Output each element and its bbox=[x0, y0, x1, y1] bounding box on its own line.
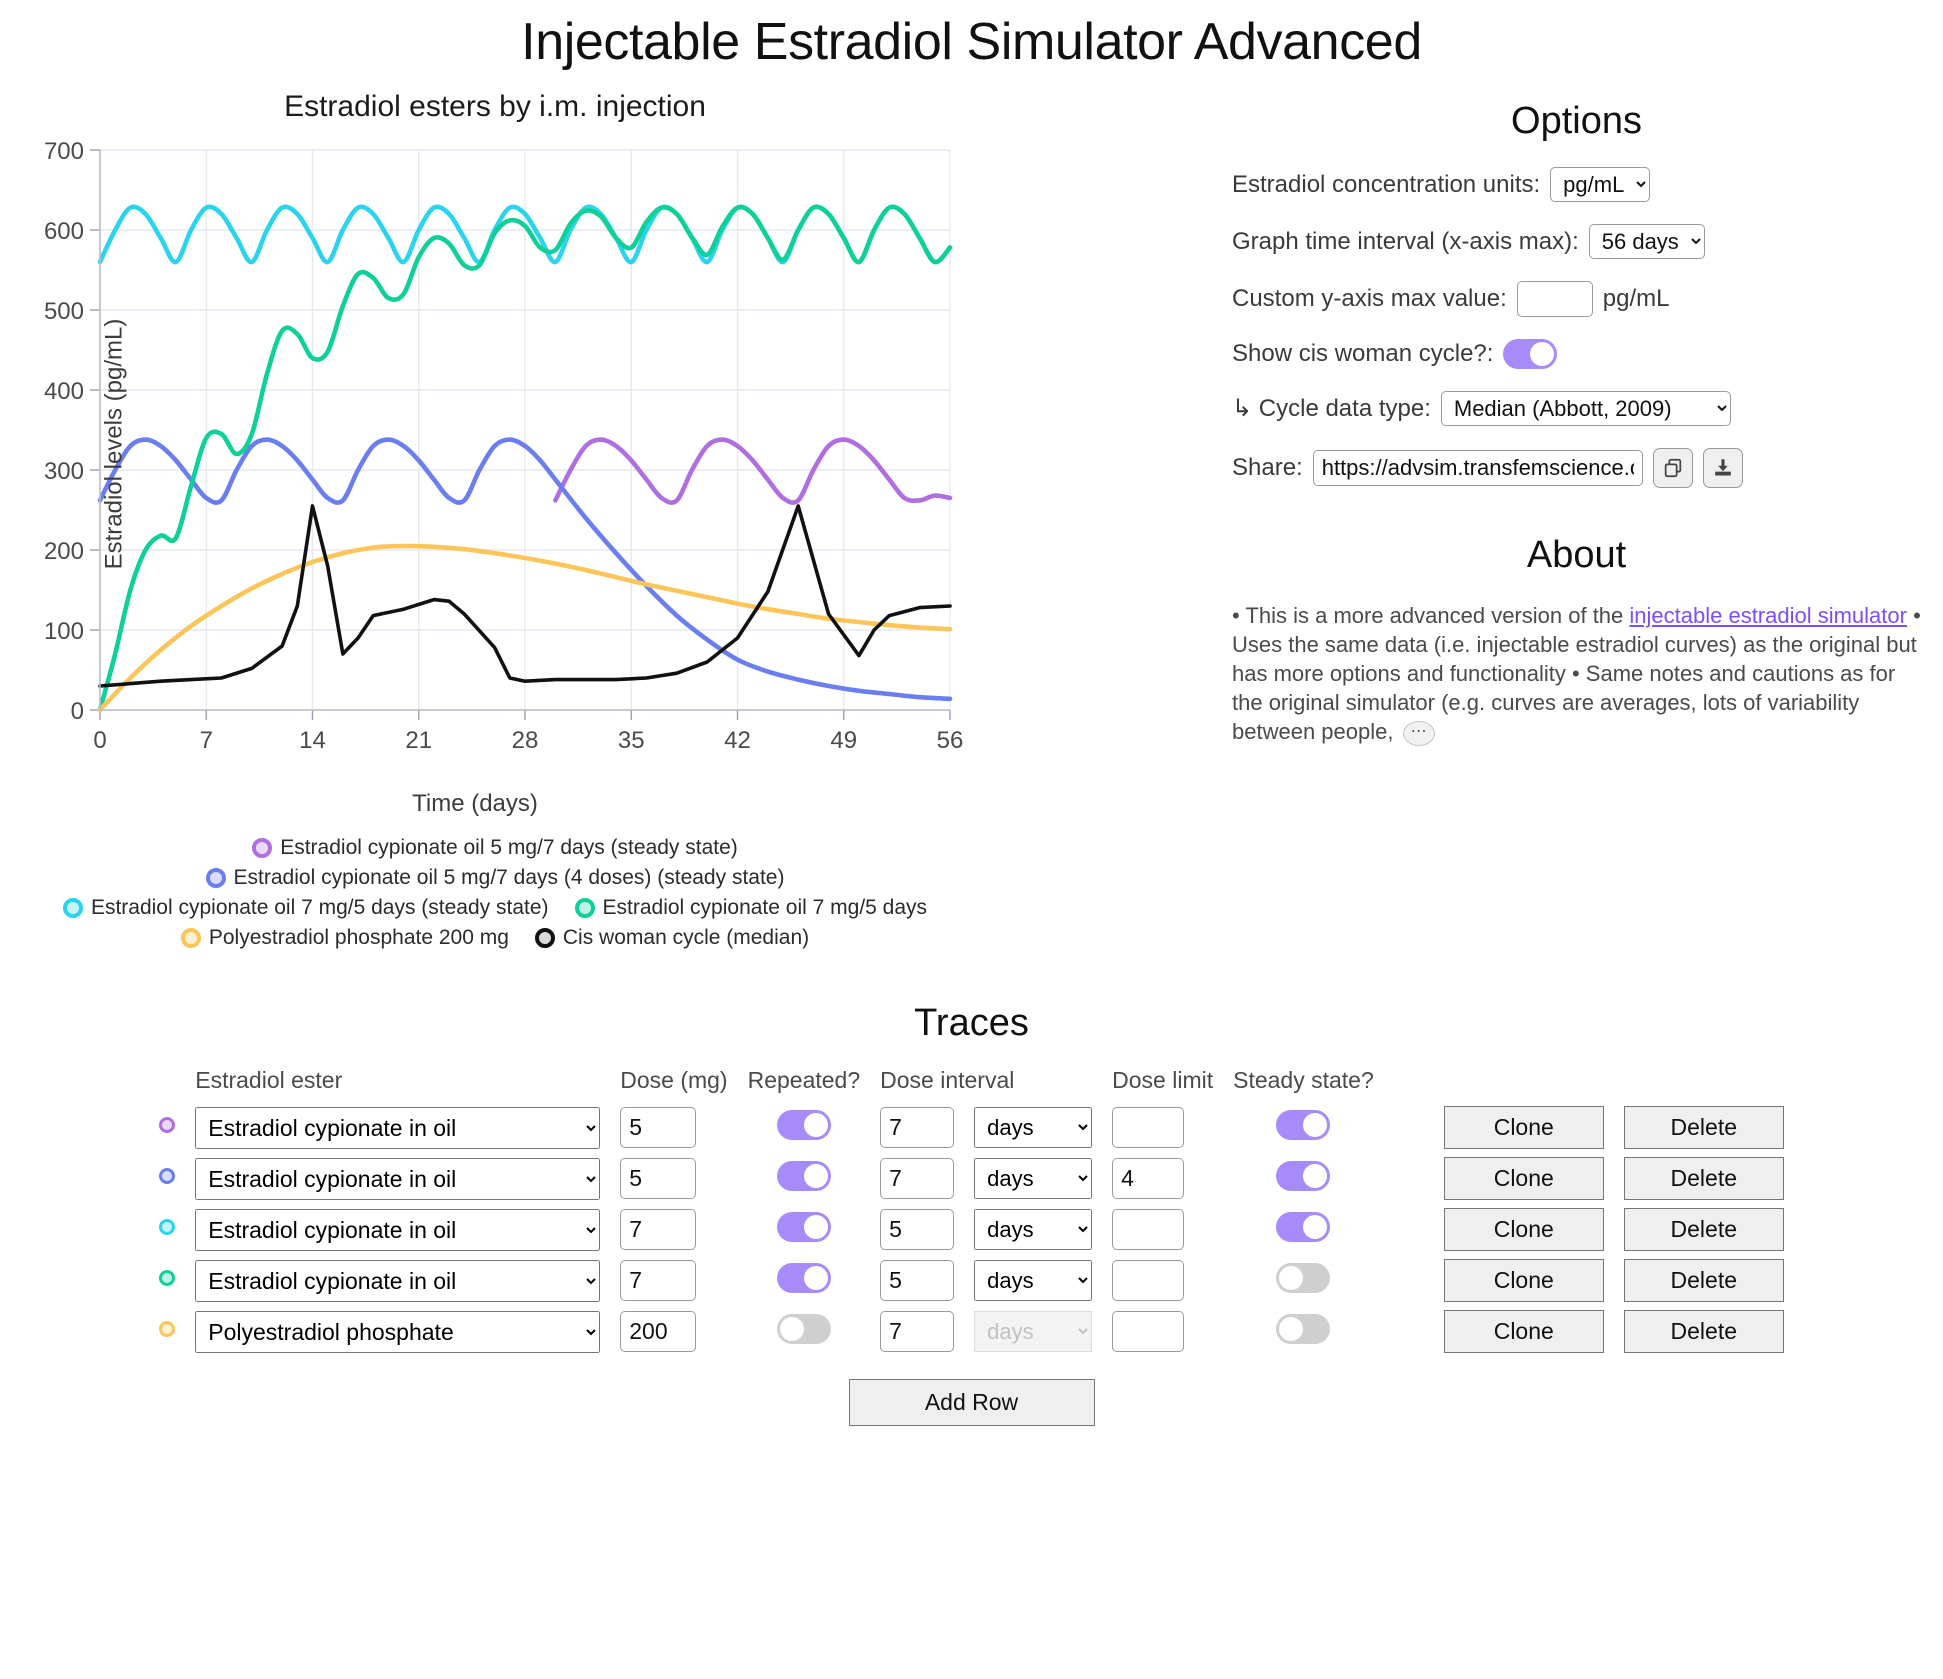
interval-unit-select: days bbox=[974, 1311, 1092, 1352]
delete-button[interactable]: Delete bbox=[1624, 1106, 1784, 1149]
chart-plot: 01002003004005006007000714212835424956 bbox=[0, 130, 1210, 790]
app-root: Injectable Estradiol Simulator Advanced … bbox=[0, 12, 1943, 1679]
dose-cell bbox=[610, 1102, 737, 1153]
legend-label: Estradiol cypionate oil 7 mg/5 days bbox=[603, 896, 928, 920]
repeated-cell bbox=[738, 1204, 871, 1255]
svg-text:300: 300 bbox=[44, 458, 84, 485]
share-label: Share: bbox=[1232, 454, 1303, 482]
interval-input[interactable] bbox=[880, 1260, 954, 1301]
steady-state-cell bbox=[1223, 1102, 1384, 1153]
clone-button[interactable]: Clone bbox=[1444, 1208, 1604, 1251]
repeated-toggle[interactable] bbox=[777, 1314, 831, 1344]
legend-row: Polyestradiol phosphate 200 mgCis woman … bbox=[0, 926, 990, 950]
repeated-cell bbox=[738, 1306, 871, 1357]
legend-color-dot-icon bbox=[575, 898, 595, 918]
svg-text:42: 42 bbox=[724, 727, 751, 754]
dose-cell bbox=[610, 1204, 737, 1255]
interval-unit-select[interactable]: days bbox=[974, 1107, 1092, 1148]
interval-cell bbox=[870, 1255, 964, 1306]
svg-text:56: 56 bbox=[937, 727, 964, 754]
svg-text:7: 7 bbox=[200, 727, 213, 754]
traces-body: Estradiol cypionate in oildaysCloneDelet… bbox=[149, 1102, 1794, 1357]
clone-cell: Clone bbox=[1384, 1306, 1614, 1357]
interval-cell bbox=[870, 1102, 964, 1153]
add-row-button[interactable]: Add Row bbox=[849, 1379, 1095, 1426]
cycle-type-select[interactable]: Median (Abbott, 2009) bbox=[1441, 391, 1731, 426]
trace-color-cell bbox=[149, 1102, 185, 1153]
clone-button[interactable]: Clone bbox=[1444, 1106, 1604, 1149]
legend-item[interactable]: Estradiol cypionate oil 5 mg/7 days (ste… bbox=[252, 836, 738, 860]
cycle-type-label: ↳ Cycle data type: bbox=[1232, 394, 1431, 423]
svg-text:0: 0 bbox=[93, 727, 106, 754]
legend-row: Estradiol cypionate oil 7 mg/5 days (ste… bbox=[0, 896, 990, 920]
legend-item[interactable]: Estradiol cypionate oil 7 mg/5 days bbox=[575, 896, 928, 920]
chart-legend: Estradiol cypionate oil 5 mg/7 days (ste… bbox=[0, 836, 1210, 950]
interval-input[interactable] bbox=[880, 1209, 954, 1250]
delete-button[interactable]: Delete bbox=[1624, 1208, 1784, 1251]
ester-select[interactable]: Estradiol cypionate in oil bbox=[195, 1260, 600, 1302]
svg-text:21: 21 bbox=[405, 727, 432, 754]
traces-header-row: Estradiol ester Dose (mg) Repeated? Dose… bbox=[149, 1067, 1794, 1102]
trace-color-cell bbox=[149, 1306, 185, 1357]
interval-unit-cell: days bbox=[964, 1255, 1102, 1306]
trace-color-dot-icon bbox=[159, 1168, 175, 1184]
svg-text:200: 200 bbox=[44, 538, 84, 565]
traces-table: Estradiol ester Dose (mg) Repeated? Dose… bbox=[149, 1067, 1794, 1357]
svg-text:49: 49 bbox=[830, 727, 857, 754]
delete-button[interactable]: Delete bbox=[1624, 1310, 1784, 1353]
interval-unit-select[interactable]: days bbox=[974, 1209, 1092, 1250]
units-select[interactable]: pg/mL bbox=[1550, 167, 1650, 202]
trace-color-dot-icon bbox=[159, 1270, 175, 1286]
interval-input bbox=[880, 1311, 954, 1352]
svg-text:500: 500 bbox=[44, 298, 84, 325]
svg-text:700: 700 bbox=[44, 138, 84, 165]
copy-icon[interactable] bbox=[1653, 448, 1693, 488]
legend-item[interactable]: Cis woman cycle (median) bbox=[535, 926, 809, 950]
page-title: Injectable Estradiol Simulator Advanced bbox=[0, 12, 1943, 72]
dose-limit-input[interactable] bbox=[1112, 1260, 1184, 1301]
dose-limit-input[interactable] bbox=[1112, 1158, 1184, 1199]
chart-title: Estradiol esters by i.m. injection bbox=[0, 90, 1210, 124]
about-heading: About bbox=[1210, 534, 1943, 577]
th-repeated: Repeated? bbox=[738, 1067, 871, 1102]
clone-button[interactable]: Clone bbox=[1444, 1310, 1604, 1353]
units-label: Estradiol concentration units: bbox=[1232, 171, 1540, 199]
table-row: Estradiol cypionate in oildaysCloneDelet… bbox=[149, 1204, 1794, 1255]
table-row: Polyestradiol phosphatedaysCloneDelete bbox=[149, 1306, 1794, 1357]
legend-row: Estradiol cypionate oil 5 mg/7 days (ste… bbox=[0, 836, 990, 860]
repeated-toggle[interactable] bbox=[777, 1263, 831, 1293]
legend-label: Estradiol cypionate oil 7 mg/5 days (ste… bbox=[91, 896, 549, 920]
steady-state-cell bbox=[1223, 1204, 1384, 1255]
dose-limit-input[interactable] bbox=[1112, 1209, 1184, 1250]
custom-ymax-label: Custom y-axis max value: bbox=[1232, 285, 1507, 313]
custom-ymax-row: Custom y-axis max value: pg/mL bbox=[1210, 281, 1943, 317]
ester-select[interactable]: Estradiol cypionate in oil bbox=[195, 1209, 600, 1251]
dose-input[interactable] bbox=[620, 1107, 696, 1148]
trace-color-cell bbox=[149, 1204, 185, 1255]
delete-button[interactable]: Delete bbox=[1624, 1157, 1784, 1200]
time-interval-select[interactable]: 56 days bbox=[1589, 224, 1705, 259]
interval-unit-cell: days bbox=[964, 1306, 1102, 1357]
th-swatch bbox=[149, 1067, 185, 1102]
repeated-toggle[interactable] bbox=[777, 1212, 831, 1242]
share-row: Share: bbox=[1210, 448, 1943, 488]
steady-state-cell bbox=[1223, 1153, 1384, 1204]
th-delete bbox=[1614, 1067, 1794, 1102]
clone-button[interactable]: Clone bbox=[1444, 1259, 1604, 1302]
legend-color-dot-icon bbox=[535, 928, 555, 948]
about-text-1: • This is a more advanced version of the bbox=[1232, 603, 1629, 628]
ester-cell: Polyestradiol phosphate bbox=[185, 1306, 610, 1357]
dose-input[interactable] bbox=[620, 1209, 696, 1250]
add-row-wrap: Add Row bbox=[0, 1379, 1943, 1426]
dose-cell bbox=[610, 1153, 737, 1204]
trace-color-dot-icon bbox=[159, 1321, 175, 1337]
clone-cell: Clone bbox=[1384, 1255, 1614, 1306]
interval-input[interactable] bbox=[880, 1107, 954, 1148]
dose-limit-cell bbox=[1102, 1204, 1223, 1255]
dose-cell bbox=[610, 1255, 737, 1306]
legend-color-dot-icon bbox=[206, 868, 226, 888]
legend-row: Estradiol cypionate oil 5 mg/7 days (4 d… bbox=[0, 866, 990, 890]
legend-color-dot-icon bbox=[181, 928, 201, 948]
svg-text:28: 28 bbox=[512, 727, 539, 754]
th-steady-state: Steady state? bbox=[1223, 1067, 1384, 1102]
table-row: Estradiol cypionate in oildaysCloneDelet… bbox=[149, 1102, 1794, 1153]
th-dose-interval: Dose interval bbox=[870, 1067, 1102, 1102]
options-heading: Options bbox=[1210, 100, 1943, 143]
ester-cell: Estradiol cypionate in oil bbox=[185, 1153, 610, 1204]
repeated-toggle[interactable] bbox=[777, 1161, 831, 1191]
steady-state-toggle[interactable] bbox=[1276, 1314, 1330, 1344]
traces-heading: Traces bbox=[0, 1002, 1943, 1045]
chart-column: Estradiol esters by i.m. injection Estra… bbox=[0, 72, 1210, 956]
units-row: Estradiol concentration units: pg/mL bbox=[1210, 167, 1943, 202]
chart-x-axis-label: Time (days) bbox=[0, 790, 950, 818]
legend-label: Polyestradiol phosphate 200 mg bbox=[209, 926, 509, 950]
ester-select[interactable]: Estradiol cypionate in oil bbox=[195, 1107, 600, 1149]
chart-area: Estradiol levels (pg/mL) Time (days) 010… bbox=[0, 130, 1210, 830]
legend-label: Estradiol cypionate oil 5 mg/7 days (4 d… bbox=[234, 866, 785, 890]
options-column: Options Estradiol concentration units: p… bbox=[1210, 72, 1943, 746]
th-ester: Estradiol ester bbox=[185, 1067, 610, 1102]
show-cycle-label: Show cis woman cycle?: bbox=[1232, 340, 1493, 368]
table-row: Estradiol cypionate in oildaysCloneDelet… bbox=[149, 1153, 1794, 1204]
th-dose: Dose (mg) bbox=[610, 1067, 737, 1102]
dose-input[interactable] bbox=[620, 1260, 696, 1301]
injectable-estradiol-simulator-link[interactable]: injectable estradiol simulator bbox=[1629, 603, 1907, 628]
legend-label: Estradiol cypionate oil 5 mg/7 days (ste… bbox=[280, 836, 738, 860]
table-row: Estradiol cypionate in oildaysCloneDelet… bbox=[149, 1255, 1794, 1306]
dose-limit-cell bbox=[1102, 1255, 1223, 1306]
ester-cell: Estradiol cypionate in oil bbox=[185, 1102, 610, 1153]
th-clone bbox=[1384, 1067, 1614, 1102]
dose-cell bbox=[610, 1306, 737, 1357]
dose-limit-input[interactable] bbox=[1112, 1311, 1184, 1352]
svg-text:600: 600 bbox=[44, 218, 84, 245]
ester-cell: Estradiol cypionate in oil bbox=[185, 1255, 610, 1306]
delete-cell: Delete bbox=[1614, 1102, 1794, 1153]
interval-unit-select[interactable]: days bbox=[974, 1260, 1092, 1301]
dose-limit-cell bbox=[1102, 1102, 1223, 1153]
legend-item[interactable]: Estradiol cypionate oil 5 mg/7 days (4 d… bbox=[206, 866, 785, 890]
dose-limit-cell bbox=[1102, 1153, 1223, 1204]
steady-state-cell bbox=[1223, 1255, 1384, 1306]
trace-color-cell bbox=[149, 1255, 185, 1306]
expand-about-button[interactable]: ⋯ bbox=[1403, 721, 1435, 746]
repeated-toggle[interactable] bbox=[777, 1110, 831, 1140]
main-columns: Estradiol esters by i.m. injection Estra… bbox=[0, 72, 1943, 956]
interval-unit-cell: days bbox=[964, 1102, 1102, 1153]
steady-state-toggle[interactable] bbox=[1276, 1110, 1330, 1140]
ester-select[interactable]: Polyestradiol phosphate bbox=[195, 1311, 600, 1353]
share-input[interactable] bbox=[1313, 450, 1643, 486]
steady-state-toggle[interactable] bbox=[1276, 1263, 1330, 1293]
clone-button[interactable]: Clone bbox=[1444, 1157, 1604, 1200]
trace-color-cell bbox=[149, 1153, 185, 1204]
cycle-type-row: ↳ Cycle data type: Median (Abbott, 2009) bbox=[1210, 391, 1943, 426]
delete-cell: Delete bbox=[1614, 1153, 1794, 1204]
steady-state-toggle[interactable] bbox=[1276, 1212, 1330, 1242]
about-text: • This is a more advanced version of the… bbox=[1210, 601, 1943, 746]
ester-cell: Estradiol cypionate in oil bbox=[185, 1204, 610, 1255]
traces-head: Estradiol ester Dose (mg) Repeated? Dose… bbox=[149, 1067, 1794, 1102]
clone-cell: Clone bbox=[1384, 1204, 1614, 1255]
custom-ymax-unit: pg/mL bbox=[1603, 285, 1670, 313]
svg-text:100: 100 bbox=[44, 618, 84, 645]
download-icon[interactable] bbox=[1703, 448, 1743, 488]
ester-select[interactable]: Estradiol cypionate in oil bbox=[195, 1158, 600, 1200]
time-interval-label: Graph time interval (x-axis max): bbox=[1232, 228, 1579, 256]
legend-item[interactable]: Estradiol cypionate oil 7 mg/5 days (ste… bbox=[63, 896, 549, 920]
dose-limit-input[interactable] bbox=[1112, 1107, 1184, 1148]
show-cycle-toggle[interactable] bbox=[1503, 339, 1557, 369]
dose-input[interactable] bbox=[620, 1311, 696, 1352]
time-interval-row: Graph time interval (x-axis max): 56 day… bbox=[1210, 224, 1943, 259]
delete-cell: Delete bbox=[1614, 1255, 1794, 1306]
chart-y-axis-label: Estradiol levels (pg/mL) bbox=[100, 319, 128, 570]
delete-button[interactable]: Delete bbox=[1624, 1259, 1784, 1302]
interval-unit-cell: days bbox=[964, 1204, 1102, 1255]
svg-text:0: 0 bbox=[71, 698, 84, 725]
legend-item[interactable]: Polyestradiol phosphate 200 mg bbox=[181, 926, 509, 950]
clone-cell: Clone bbox=[1384, 1102, 1614, 1153]
repeated-cell bbox=[738, 1255, 871, 1306]
interval-unit-cell: days bbox=[964, 1153, 1102, 1204]
legend-label: Cis woman cycle (median) bbox=[563, 926, 809, 950]
dose-limit-cell bbox=[1102, 1306, 1223, 1357]
show-cycle-row: Show cis woman cycle?: bbox=[1210, 339, 1943, 369]
interval-unit-select[interactable]: days bbox=[974, 1158, 1092, 1199]
th-dose-limit: Dose limit bbox=[1102, 1067, 1223, 1102]
trace-color-dot-icon bbox=[159, 1219, 175, 1235]
trace-color-dot-icon bbox=[159, 1117, 175, 1133]
clone-cell: Clone bbox=[1384, 1153, 1614, 1204]
interval-cell bbox=[870, 1153, 964, 1204]
interval-cell bbox=[870, 1306, 964, 1357]
dose-input[interactable] bbox=[620, 1158, 696, 1199]
repeated-cell bbox=[738, 1153, 871, 1204]
legend-color-dot-icon bbox=[63, 898, 83, 918]
delete-cell: Delete bbox=[1614, 1204, 1794, 1255]
legend-color-dot-icon bbox=[252, 838, 272, 858]
steady-state-toggle[interactable] bbox=[1276, 1161, 1330, 1191]
repeated-cell bbox=[738, 1102, 871, 1153]
interval-input[interactable] bbox=[880, 1158, 954, 1199]
svg-text:400: 400 bbox=[44, 378, 84, 405]
delete-cell: Delete bbox=[1614, 1306, 1794, 1357]
svg-text:14: 14 bbox=[299, 727, 326, 754]
interval-cell bbox=[870, 1204, 964, 1255]
svg-text:35: 35 bbox=[618, 727, 645, 754]
steady-state-cell bbox=[1223, 1306, 1384, 1357]
custom-ymax-input[interactable] bbox=[1517, 281, 1593, 317]
